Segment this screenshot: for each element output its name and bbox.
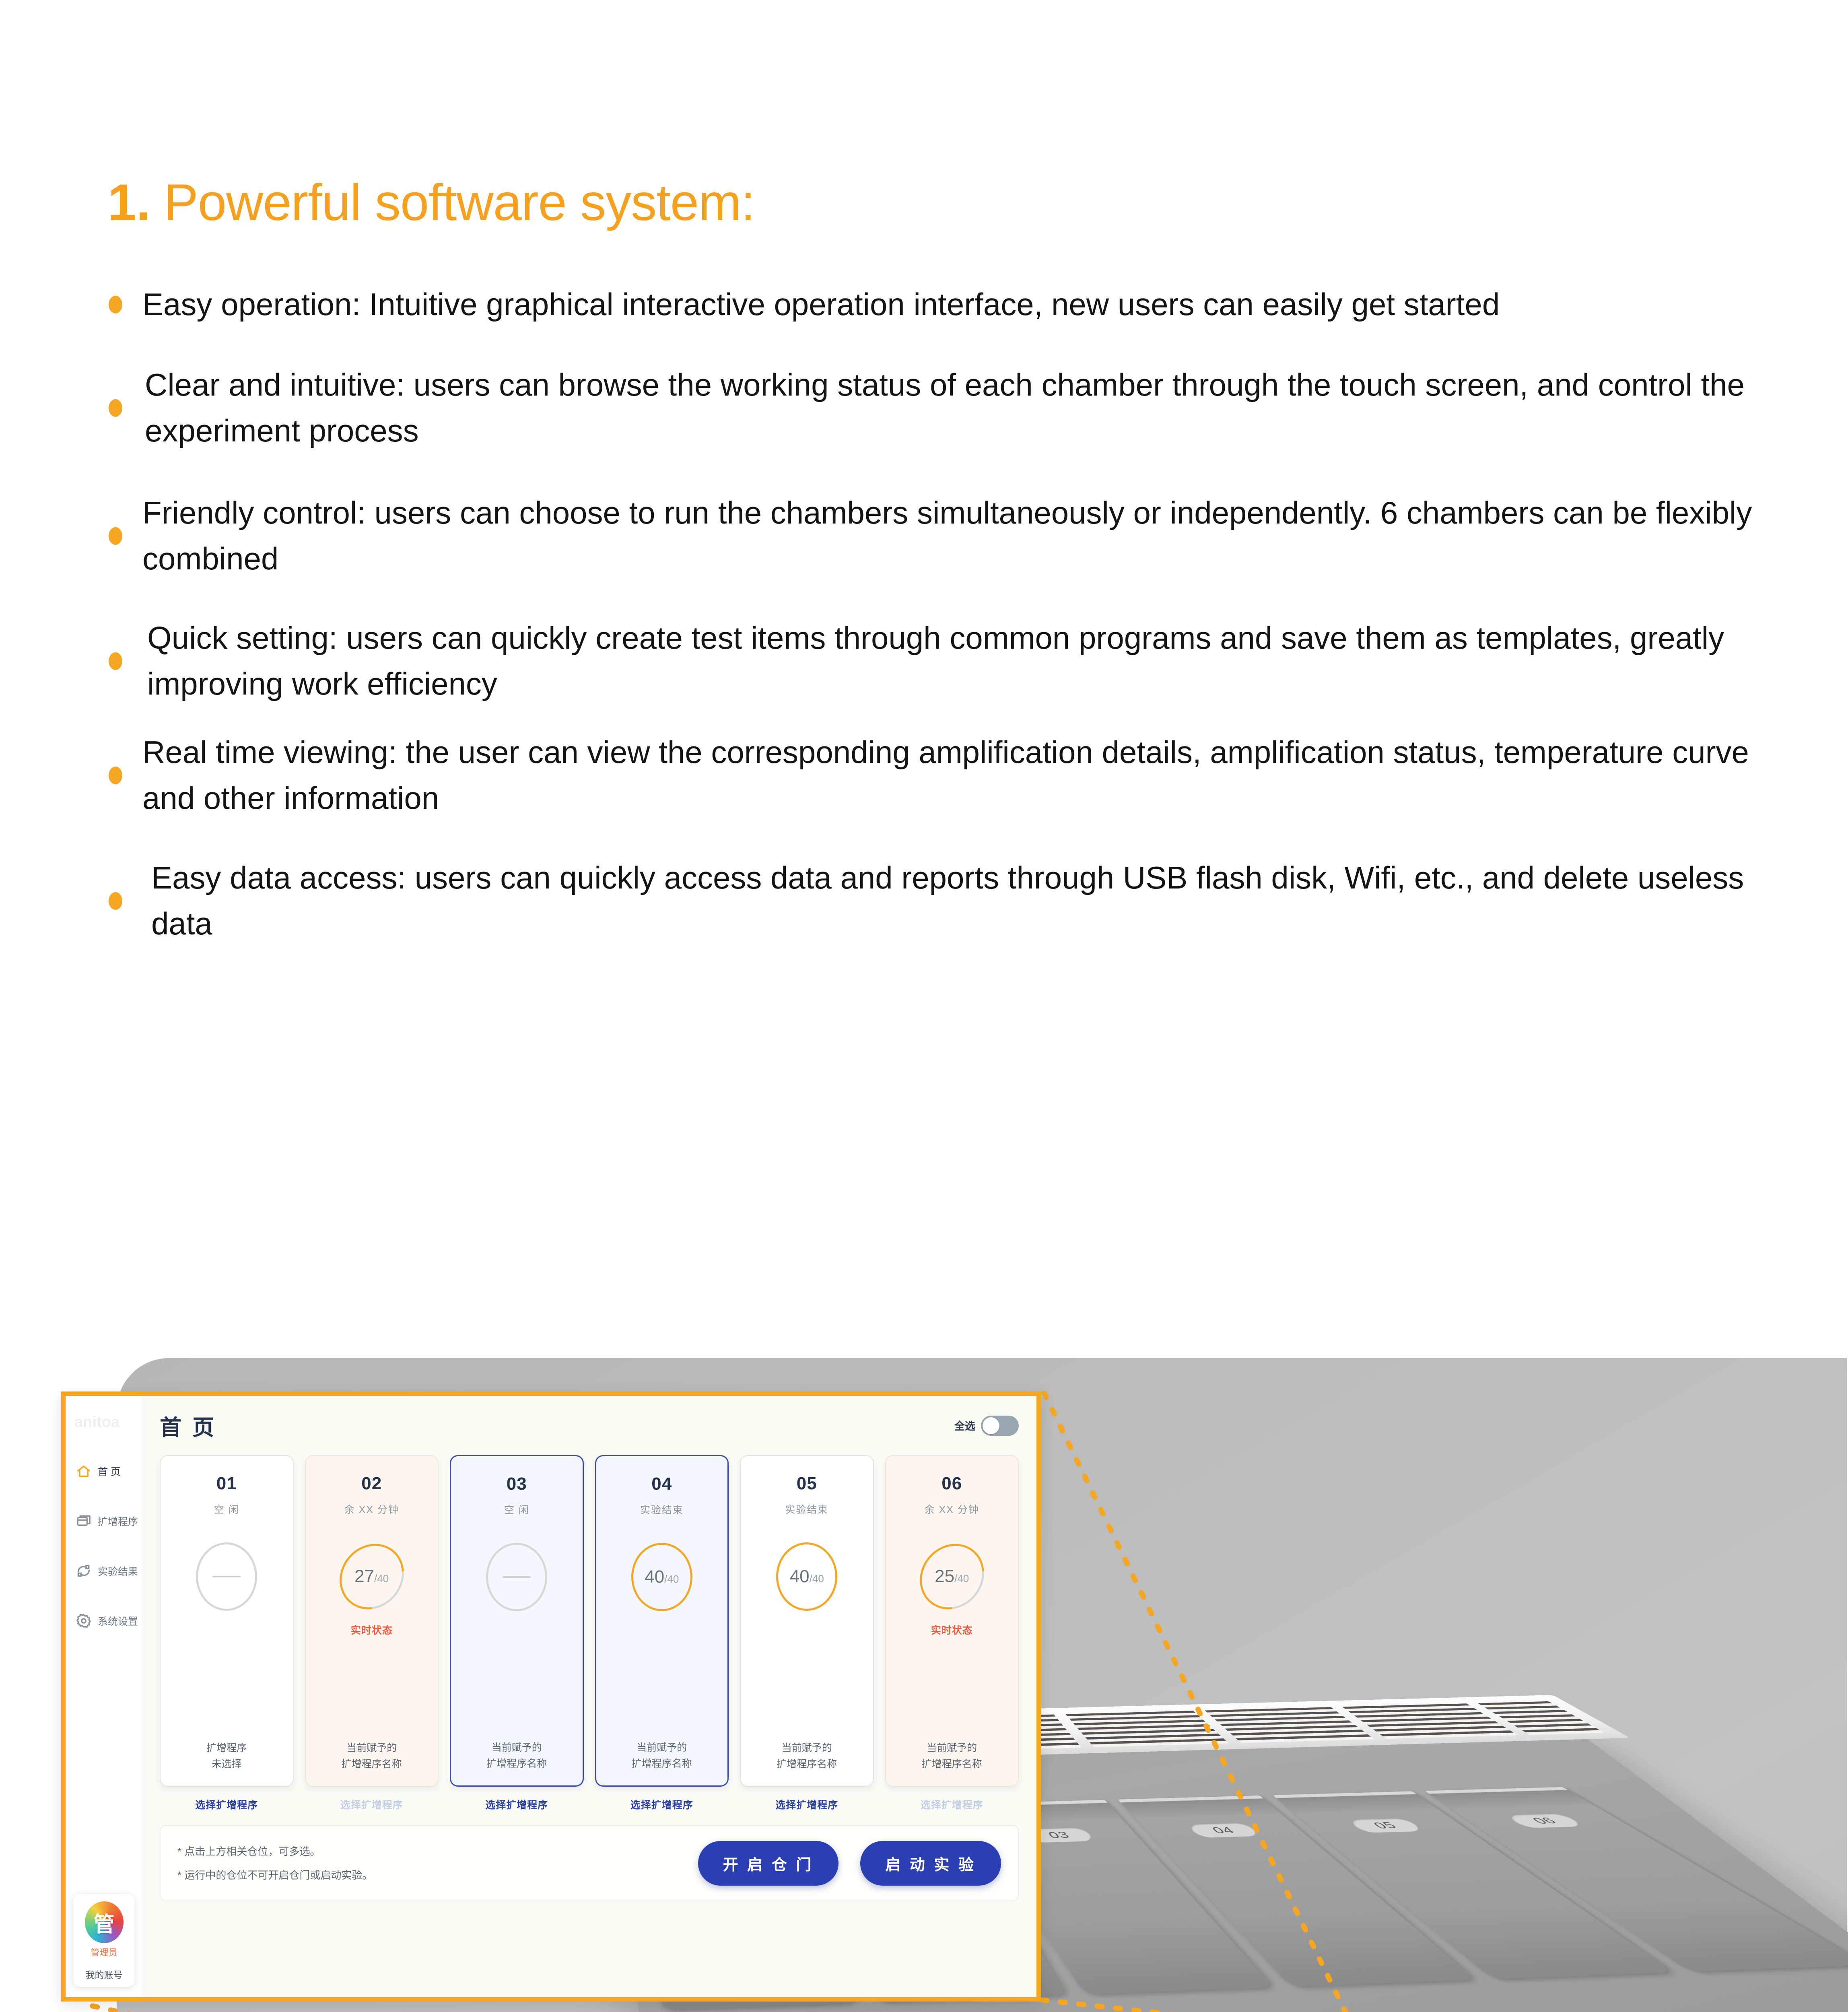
ui-page-title: 首 页 xyxy=(160,1410,216,1441)
account-label: 我的账号 xyxy=(78,1967,130,1981)
bullet-text: Easy data access: users can quickly acce… xyxy=(136,855,1778,947)
realtime-status: 实时状态 xyxy=(931,1622,973,1635)
sidebar-item-settings[interactable]: 系统设置 xyxy=(75,1612,142,1629)
chamber-column: 02 余 XX 分钟 27/40 实时状态 当前赋予的 扩增程序名称 选择扩增程… xyxy=(305,1455,439,1812)
program-line: 未选择 xyxy=(206,1756,247,1772)
chamber-number: 06 xyxy=(942,1474,962,1494)
select-program-link[interactable]: 选择扩增程序 xyxy=(921,1797,983,1812)
ui-callout-panel: anitoa 首 页 扩增程序 实验结果 xyxy=(61,1391,1041,2002)
select-program-link[interactable]: 选择扩增程序 xyxy=(340,1797,403,1812)
chamber-number: 05 xyxy=(797,1474,817,1494)
program-line: 扩增程序名称 xyxy=(342,1756,402,1772)
bullet-dot-icon xyxy=(109,652,122,670)
bullet-text: Friendly control: users can choose to ru… xyxy=(136,490,1778,582)
sidebar-item-programs[interactable]: 扩增程序 xyxy=(75,1513,142,1530)
chamber-status: 余 XX 分钟 xyxy=(925,1502,979,1516)
chamber-number: 02 xyxy=(361,1474,382,1494)
bullet-text: Real time viewing: the user can view the… xyxy=(136,730,1778,821)
start-test-button[interactable]: 启 动 实 验 xyxy=(860,1841,1001,1886)
progress-ring: 40/40 xyxy=(631,1543,692,1611)
programs-icon xyxy=(75,1513,92,1530)
chamber-number: 04 xyxy=(651,1474,672,1494)
program-line: 当前赋予的 xyxy=(777,1740,837,1756)
select-program-link[interactable]: 选择扩增程序 xyxy=(195,1797,258,1812)
chamber-number: 01 xyxy=(216,1474,237,1494)
program-line: 扩增程序 xyxy=(206,1740,247,1756)
chamber-card[interactable]: 02 余 XX 分钟 27/40 实时状态 当前赋予的 扩增程序名称 xyxy=(305,1455,439,1787)
chamber-column: 03 空 闲 当前赋予的 扩增程序名称 选择扩增程序 xyxy=(450,1455,584,1812)
select-program-link[interactable]: 选择扩增程序 xyxy=(630,1797,693,1812)
program-line: 当前赋予的 xyxy=(632,1740,692,1756)
bullet-dot-icon xyxy=(109,527,122,545)
progress-ring: 25/40 xyxy=(906,1531,997,1622)
progress-value: 40/40 xyxy=(790,1567,824,1587)
chamber-card[interactable]: 03 空 闲 当前赋予的 扩增程序名称 xyxy=(450,1455,584,1787)
chamber-badge: 04 xyxy=(1187,1823,1261,1838)
feature-bullet-list: Easy operation: Intuitive graphical inte… xyxy=(109,282,1778,968)
footer-note: * 点击上方相关仓位，可多选。 xyxy=(177,1840,686,1864)
sidebar-item-label: 系统设置 xyxy=(98,1614,138,1628)
home-icon xyxy=(75,1463,92,1480)
chamber-card[interactable]: 04 实验结束 40/40 当前赋予的 扩增程序名称 xyxy=(595,1455,729,1787)
chamber-status: 实验结束 xyxy=(640,1502,684,1517)
program-line: 扩增程序名称 xyxy=(632,1756,692,1772)
chamber-status: 实验结束 xyxy=(785,1502,828,1516)
page-title: 1. Powerful software system: xyxy=(108,173,755,232)
program-name: 当前赋予的 扩增程序名称 xyxy=(922,1740,982,1772)
chamber-column: 05 实验结束 40/40 当前赋予的 扩增程序名称 选择扩增程序 xyxy=(740,1455,874,1812)
chamber-column: 01 空 闲 扩增程序 未选择 选择扩增程序 xyxy=(160,1455,294,1812)
chamber-badge: 06 xyxy=(1506,1814,1584,1828)
progress-ring: 40/40 xyxy=(776,1542,837,1611)
program-name: 扩增程序 未选择 xyxy=(206,1740,247,1772)
progress-ring xyxy=(486,1543,547,1611)
chamber-card[interactable]: 06 余 XX 分钟 25/40 实时状态 当前赋予的 扩增程序名称 xyxy=(885,1455,1019,1787)
account-card[interactable]: 管 管理员 我的账号 xyxy=(74,1894,134,1987)
chamber-card-row: 01 空 闲 扩增程序 未选择 选择扩增程序 02 余 XX 分钟 27/40 … xyxy=(160,1455,1019,1812)
program-name: 当前赋予的 扩增程序名称 xyxy=(777,1740,837,1772)
list-item: Quick setting: users can quickly create … xyxy=(109,615,1778,707)
list-item: Easy operation: Intuitive graphical inte… xyxy=(109,282,1778,328)
program-name: 当前赋予的 扩增程序名称 xyxy=(632,1740,692,1772)
progress-ring xyxy=(196,1542,257,1611)
bullet-dot-icon xyxy=(109,399,122,417)
progress-value: 40/40 xyxy=(645,1567,679,1587)
sidebar-item-label: 实验结果 xyxy=(98,1564,138,1578)
avatar: 管 xyxy=(85,1901,124,1943)
brand-logo: anitoa xyxy=(66,1406,142,1459)
chamber-status: 空 闲 xyxy=(214,1502,239,1516)
select-program-link[interactable]: 选择扩增程序 xyxy=(485,1797,548,1812)
account-name: 管理员 xyxy=(78,1946,130,1958)
program-name: 当前赋予的 扩增程序名称 xyxy=(486,1740,547,1772)
chamber-column: 06 余 XX 分钟 25/40 实时状态 当前赋予的 扩增程序名称 选择扩增程… xyxy=(885,1455,1019,1812)
program-line: 扩增程序名称 xyxy=(922,1756,982,1772)
program-line: 扩增程序名称 xyxy=(486,1756,547,1772)
page-title-text: Powerful software system: xyxy=(164,174,755,231)
chamber-status: 余 XX 分钟 xyxy=(344,1502,399,1516)
list-item: Clear and intuitive: users can browse th… xyxy=(109,362,1778,454)
page-title-number: 1. xyxy=(108,174,150,231)
sidebar-item-label: 首 页 xyxy=(98,1464,121,1478)
select-all-toggle[interactable] xyxy=(981,1416,1019,1436)
open-chambers-button[interactable]: 开 启 仓 门 xyxy=(698,1841,839,1886)
sidebar-item-home[interactable]: 首 页 xyxy=(75,1463,142,1480)
list-item: Real time viewing: the user can view the… xyxy=(109,730,1778,821)
chamber-card[interactable]: 01 空 闲 扩增程序 未选择 xyxy=(160,1455,294,1787)
progress-value: 25/40 xyxy=(935,1567,969,1587)
chamber-badge: 05 xyxy=(1347,1818,1424,1833)
ui-main-area: 首 页 全选 01 空 闲 扩增程序 未选择 选择扩增程序 xyxy=(142,1396,1036,1997)
sidebar-item-results[interactable]: 实验结果 xyxy=(75,1563,142,1579)
footer-note: * 运行中的仓位不可开启仓门或启动实验。 xyxy=(177,1864,686,1887)
select-program-link[interactable]: 选择扩增程序 xyxy=(775,1797,838,1812)
ui-sidebar: anitoa 首 页 扩增程序 实验结果 xyxy=(66,1396,142,1997)
program-line: 扩增程序名称 xyxy=(777,1756,837,1772)
progress-ring: 27/40 xyxy=(326,1531,417,1622)
bullet-text: Easy operation: Intuitive graphical inte… xyxy=(136,282,1500,328)
dash-icon xyxy=(212,1576,241,1577)
program-name: 当前赋予的 扩增程序名称 xyxy=(342,1740,402,1772)
progress-value: 27/40 xyxy=(354,1567,389,1587)
chamber-number: 03 xyxy=(507,1474,527,1494)
list-item: Easy data access: users can quickly acce… xyxy=(109,855,1778,947)
gear-icon xyxy=(75,1612,92,1629)
dash-icon xyxy=(503,1576,531,1578)
ui-header: 首 页 全选 xyxy=(160,1410,1019,1441)
bullet-text: Clear and intuitive: users can browse th… xyxy=(136,362,1778,454)
bullet-dot-icon xyxy=(109,767,122,784)
bullet-dot-icon xyxy=(109,296,122,313)
results-icon xyxy=(75,1563,92,1579)
sidebar-item-label: 扩增程序 xyxy=(98,1514,138,1528)
bullet-text: Quick setting: users can quickly create … xyxy=(136,615,1778,707)
chamber-card[interactable]: 05 实验结束 40/40 当前赋予的 扩增程序名称 xyxy=(740,1455,874,1787)
select-all-label: 全选 xyxy=(954,1418,975,1433)
program-line: 当前赋予的 xyxy=(342,1740,402,1756)
chamber-status: 空 闲 xyxy=(504,1502,529,1517)
bullet-dot-icon xyxy=(109,892,122,910)
select-all-control[interactable]: 全选 xyxy=(954,1416,1019,1436)
realtime-status: 实时状态 xyxy=(351,1622,393,1635)
program-line: 当前赋予的 xyxy=(486,1740,547,1756)
list-item: Friendly control: users can choose to ru… xyxy=(109,490,1778,582)
program-line: 当前赋予的 xyxy=(922,1740,982,1756)
footer-notes: * 点击上方相关仓位，可多选。 * 运行中的仓位不可开启仓门或启动实验。 xyxy=(177,1840,686,1887)
chamber-column: 04 实验结束 40/40 当前赋予的 扩增程序名称 选择扩增程序 xyxy=(595,1455,729,1812)
ui-footer: * 点击上方相关仓位，可多选。 * 运行中的仓位不可开启仓门或启动实验。 开 启… xyxy=(160,1825,1019,1901)
